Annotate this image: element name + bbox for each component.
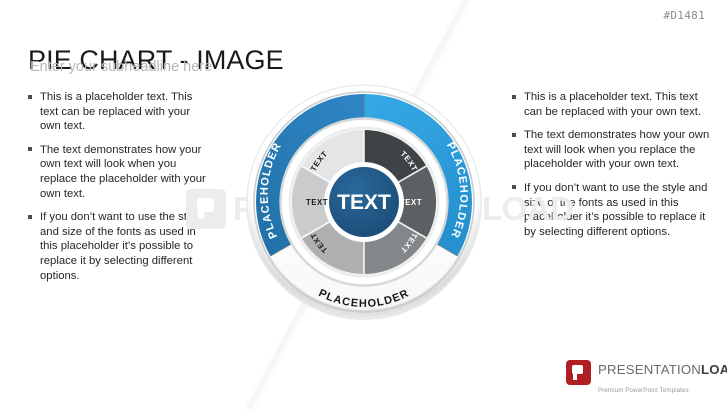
logo-word-light: PRESENTATION [598, 362, 701, 377]
bullet-marker-icon [28, 95, 32, 99]
logo-tagline: Premium PowerPoint Templates [598, 387, 689, 394]
logo-words: PRESENTATIONLOAD® Premium PowerPoint Tem… [598, 360, 727, 397]
list-item: This is a placeholder text. This text ca… [28, 90, 213, 134]
pie-chart-graphic[interactable]: TEXT PLACEHOLDER PLACEHOLDER PLACEHOLDER… [245, 83, 483, 321]
bullet-marker-icon [28, 147, 32, 151]
page-subheadline: Enter your subheadline here [30, 59, 212, 75]
list-item-text: If you don’t want to use the style and s… [40, 210, 213, 283]
bullet-list-right: This is a placeholder text. This text ca… [512, 90, 712, 239]
list-item-text: This is a placeholder text. This text ca… [40, 90, 213, 134]
bullet-marker-icon [512, 185, 516, 189]
bullet-list-left: This is a placeholder text. This text ca… [28, 90, 213, 283]
donut-chart-svg: TEXT PLACEHOLDER PLACEHOLDER PLACEHOLDER… [245, 83, 483, 321]
logo-wordmark: PRESENTATIONLOAD® [598, 362, 727, 377]
list-item-text: The text demonstrates how your own text … [524, 128, 712, 172]
slide-canvas: #D1481 PIE CHART - IMAGE Enter your subh… [0, 0, 727, 409]
logo-speech-bubble-icon [566, 360, 591, 385]
bullet-marker-icon [512, 133, 516, 137]
document-id: #D1481 [663, 9, 705, 22]
bullet-marker-icon [28, 215, 32, 219]
chart-center-label: TEXT [337, 191, 391, 214]
list-item: If you don’t want to use the style and s… [28, 210, 213, 283]
presentationload-logo: PRESENTATIONLOAD® Premium PowerPoint Tem… [566, 360, 727, 397]
list-item: The text demonstrates how your own text … [28, 143, 213, 201]
bullet-marker-icon [512, 95, 516, 99]
inner-label-2: TEXT [400, 198, 422, 207]
list-item-text: If you don’t want to use the style and s… [524, 181, 712, 239]
list-item-text: This is a placeholder text. This text ca… [524, 90, 712, 119]
list-item: The text demonstrates how your own text … [512, 128, 712, 172]
list-item-text: The text demonstrates how your own text … [40, 143, 213, 201]
list-item: This is a placeholder text. This text ca… [512, 90, 712, 119]
list-item: If you don’t want to use the style and s… [512, 181, 712, 239]
logo-word-bold: LOAD [701, 362, 727, 377]
inner-label-5: TEXT [306, 198, 328, 207]
